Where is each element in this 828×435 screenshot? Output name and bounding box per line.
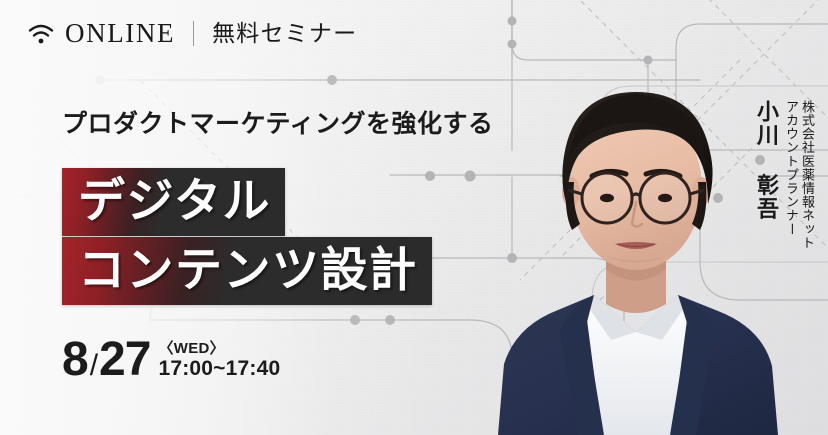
lead-copy: プロダクトマーケティングを強化する bbox=[62, 104, 494, 140]
date-separator: / bbox=[90, 351, 98, 381]
headline-text-2: コンテンツ設計 bbox=[78, 246, 418, 293]
seminar-label: 無料セミナー bbox=[212, 22, 357, 45]
speaker-name: 小川 彰吾 bbox=[754, 100, 778, 221]
seminar-banner: ONLINE 無料セミナー プロダクトマーケティングを強化する デジタル コンテ… bbox=[0, 0, 828, 435]
speaker-company: 株式会社医薬情報ネット bbox=[800, 100, 814, 250]
schedule-block: 8 / 27 〈WED〉 17:00~17:40 bbox=[62, 336, 280, 384]
day-of-week: 〈WED〉 bbox=[158, 341, 280, 358]
time-range: 17:00~17:40 bbox=[158, 357, 280, 381]
header-divider bbox=[193, 21, 194, 46]
wifi-icon bbox=[28, 23, 54, 45]
date-month: 8 bbox=[62, 336, 88, 384]
date-side: 〈WED〉 17:00~17:40 bbox=[158, 341, 280, 384]
online-label: ONLINE bbox=[65, 20, 175, 47]
headline-text-1: デジタル bbox=[78, 177, 271, 224]
speaker-info: 小川 彰吾 アカウントプランナー 株式会社医薬情報ネット bbox=[754, 100, 814, 250]
headline-box-1: デジタル bbox=[62, 168, 285, 236]
date-day: 27 bbox=[99, 336, 150, 384]
header: ONLINE 無料セミナー bbox=[28, 20, 357, 47]
date-main: 8 / 27 bbox=[62, 336, 150, 384]
speaker-role: アカウントプランナー bbox=[784, 100, 798, 236]
speaker-portrait bbox=[486, 64, 786, 435]
headline-box-2: コンテンツ設計 bbox=[62, 237, 432, 305]
